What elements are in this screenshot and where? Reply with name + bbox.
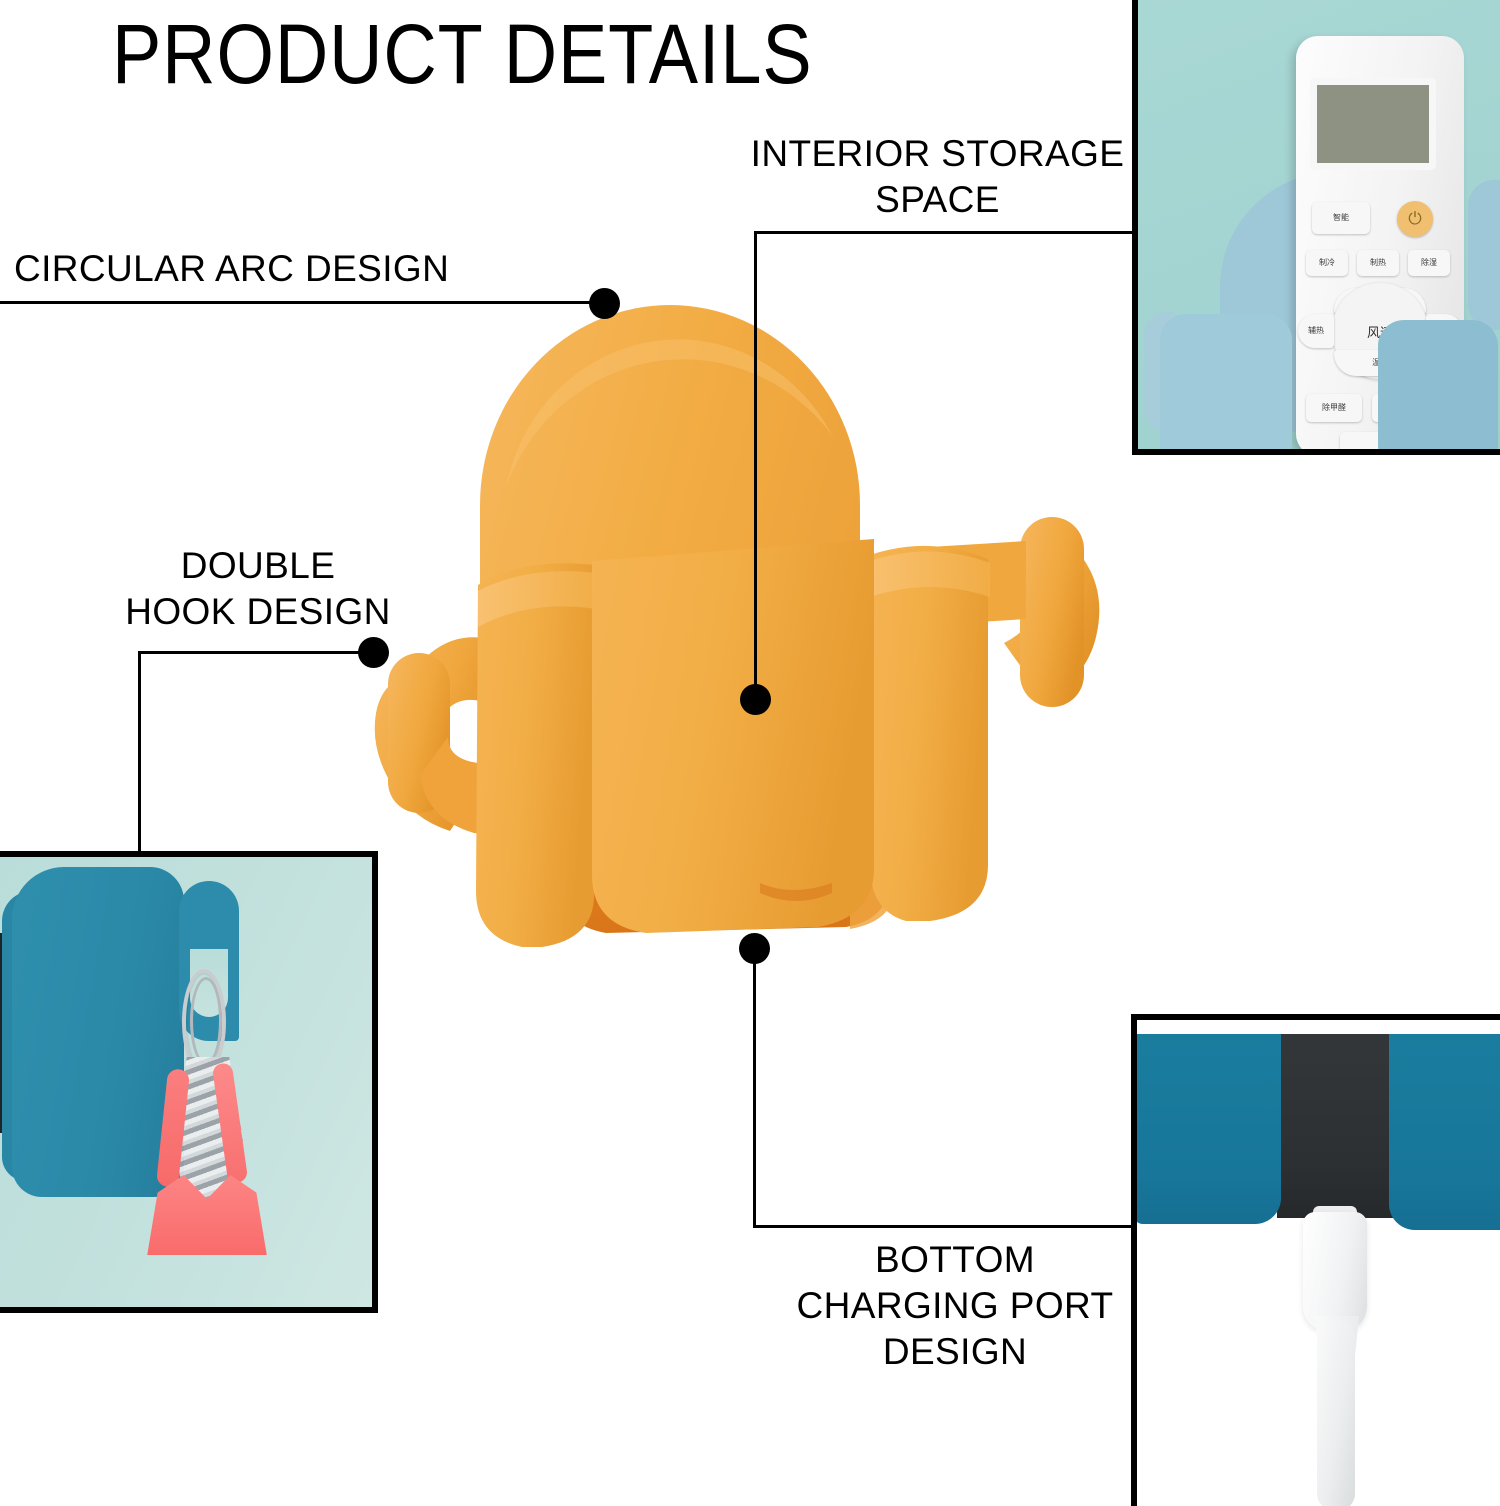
front-left-panel: [476, 563, 594, 947]
charging-port-scene: [1137, 1020, 1500, 1506]
remote-button-cool: 制冷: [1306, 250, 1348, 276]
inset-keychain-hook-photo: [0, 851, 378, 1313]
callout-dot-charging-port: [739, 933, 770, 964]
remote-button-aux-heat: 辅热: [1298, 314, 1334, 348]
remote-lcd-screen: [1310, 78, 1436, 170]
leader-line-double-hook-horizontal: [138, 651, 376, 654]
callout-dot-interior-storage: [740, 684, 771, 715]
holder-bottom-right: [1389, 1034, 1500, 1230]
remote-button-heat: 制热: [1357, 250, 1399, 276]
inset-remote-control-photo: 智能 ⏻ 制冷 制热 除湿 温度 风速 辅热 ▲ 温度 除甲醛 静音: [1132, 0, 1500, 455]
callout-dot-double-hook: [358, 637, 389, 668]
key-ring-inner: [190, 977, 222, 1065]
infographic-canvas: PRODUCT DETAILS INTERIOR STORAGE SPACE C…: [0, 0, 1500, 1500]
callout-label-bottom-charging-port: BOTTOM CHARGING PORT DESIGN: [780, 1237, 1130, 1375]
charging-cable: [1317, 1320, 1355, 1506]
main-product-image: [330, 255, 1130, 985]
leader-line-interior-storage-horizontal: [754, 231, 1134, 234]
front-face: [592, 539, 874, 933]
leader-line-charging-port-horizontal: [753, 1225, 1135, 1228]
leader-line-double-hook-vertical: [138, 651, 141, 855]
keychain-hook-scene: [0, 857, 372, 1307]
page-title: PRODUCT DETAILS: [112, 8, 813, 100]
remote-control-scene: 智能 ⏻ 制冷 制热 除湿 温度 风速 辅热 ▲ 温度 除甲醛 静音: [1138, 0, 1500, 449]
holder-right-hook: [1468, 180, 1500, 330]
remote-button-de-formaldehyde: 除甲醛: [1306, 394, 1362, 422]
cable-plug-head: [1303, 1212, 1367, 1332]
remote-button-dehumidify: 除湿: [1408, 250, 1450, 276]
inset-charging-port-photo: [1131, 1014, 1500, 1506]
holder-left-pocket: [1160, 314, 1292, 455]
front-right-panel: [870, 546, 988, 921]
leader-line-charging-port-vertical: [753, 948, 756, 1228]
charging-port-slot: [1277, 1034, 1393, 1218]
remote-button-smart: 智能: [1312, 202, 1370, 234]
holder-right-pocket: [1378, 320, 1498, 455]
remote-power-button: ⏻: [1397, 201, 1433, 237]
leader-line-interior-storage-vertical: [754, 231, 757, 701]
blue-holder-body: [12, 867, 184, 1197]
callout-label-interior-storage: INTERIOR STORAGE SPACE: [745, 131, 1130, 223]
callout-dot-circular-arc: [589, 288, 620, 319]
holder-bottom-left: [1133, 1034, 1281, 1224]
leader-line-circular-arc: [0, 301, 606, 304]
